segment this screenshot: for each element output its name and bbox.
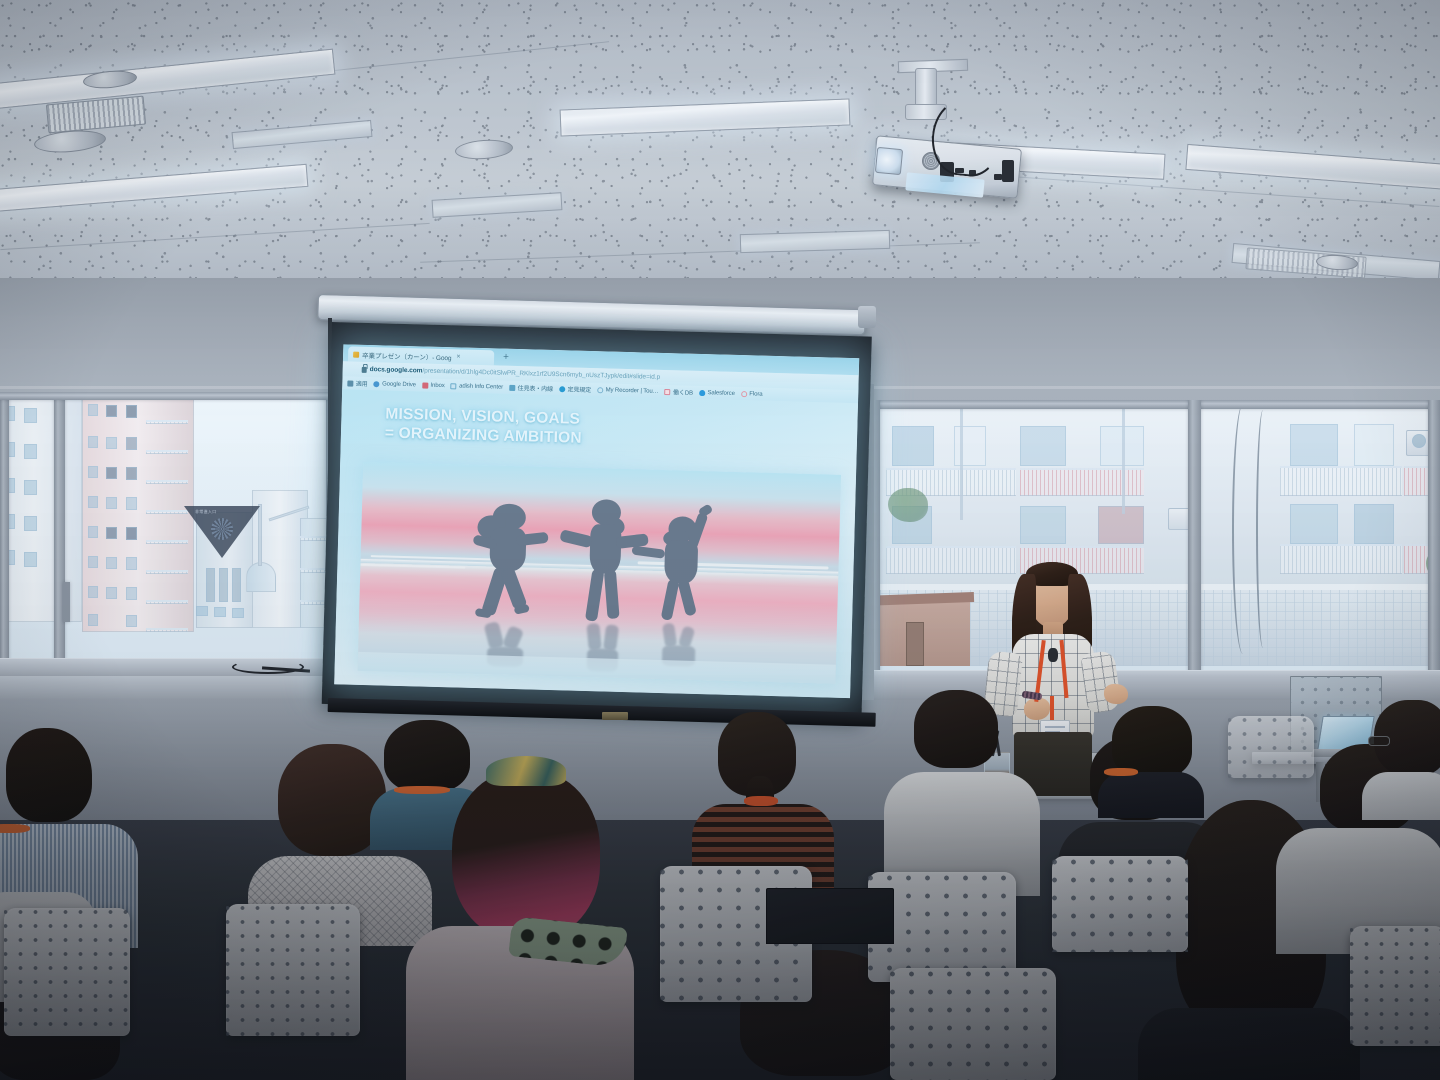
- building-window: [24, 516, 37, 531]
- reflection-leg: [662, 623, 678, 648]
- chair[interactable]: [890, 968, 1056, 1080]
- browser-tab-title: 卒業プレゼン（カーン）- Goog: [362, 349, 452, 361]
- reflection-leg: [502, 624, 524, 650]
- building-rail: [146, 480, 188, 484]
- bookmark-item[interactable]: 働くDB: [664, 387, 693, 397]
- utility-pole: [960, 400, 963, 520]
- building-window: [126, 527, 137, 540]
- building-window: [106, 527, 117, 539]
- building-window: [206, 568, 215, 602]
- audience-member-white-shirt-1: [880, 690, 1046, 896]
- apartment-balcony: [1280, 544, 1402, 574]
- window-header: [0, 392, 338, 400]
- projector-port: [994, 174, 1002, 180]
- building-window: [88, 404, 98, 416]
- presentation-room-photo: 非常進入口: [0, 0, 1440, 1080]
- building-rail: [146, 450, 188, 454]
- building-window: [126, 587, 137, 600]
- laptop-lid: [766, 888, 894, 944]
- bookmark-label: 定見規定: [567, 384, 591, 394]
- bookmark-label: Google Drive: [382, 381, 416, 388]
- badge-text-line: [1045, 726, 1065, 728]
- cloud-icon: [699, 389, 705, 395]
- screen-roller-end-cap: [858, 306, 876, 328]
- bookmark-item[interactable]: 定見規定: [559, 384, 591, 394]
- new-tab-button[interactable]: +: [503, 353, 509, 362]
- window-sill-ledge-left: [0, 676, 340, 700]
- chair-perforations: [890, 968, 1056, 1080]
- apartment-window: [892, 426, 934, 466]
- lanyard-strap: [744, 796, 778, 806]
- url-domain: docs.google.com: [370, 366, 423, 374]
- apartment-window: [1020, 426, 1066, 466]
- building-rail: [146, 628, 188, 632]
- building-rail: [146, 510, 188, 514]
- figure-leg-left: [585, 569, 605, 622]
- chair-perforations: [1228, 716, 1314, 778]
- screen-pull-tab[interactable]: [602, 712, 628, 720]
- tree: [888, 488, 928, 522]
- building-rail: [146, 540, 188, 544]
- sign-emblem: [211, 518, 233, 540]
- bookmark-item[interactable]: My Recorder | Tou…: [597, 387, 659, 395]
- screen-surface: 卒業プレゼン（カーン）- Goog × + docs.google.com/pr…: [334, 344, 859, 698]
- building-window: [24, 408, 37, 423]
- chair[interactable]: [4, 908, 130, 1036]
- bookmark-item[interactable]: 住見表・内線: [509, 383, 553, 393]
- chrome-browser-window[interactable]: 卒業プレゼン（カーン）- Goog × + docs.google.com/pr…: [334, 344, 859, 698]
- folder-icon: [347, 380, 353, 386]
- bookmark-label: 働くDB: [673, 387, 693, 397]
- window-mullion: [1188, 400, 1201, 696]
- sheet-icon: [509, 384, 515, 390]
- slide-title: MISSION, VISION, GOALS = ORGANIZING AMBI…: [385, 404, 583, 447]
- window-mullion: [1428, 400, 1440, 696]
- building-window: [88, 556, 98, 568]
- silhouette-figure-2: [569, 499, 644, 630]
- slide-photo-beach-sunset: [358, 462, 841, 684]
- pull-down-projection-screen[interactable]: 卒業プレゼン（カーン）- Goog × + docs.google.com/pr…: [318, 294, 880, 726]
- building-window: [106, 405, 117, 417]
- building-window: [88, 614, 98, 626]
- window-mullion: [54, 392, 65, 694]
- utility-pole: [1122, 400, 1125, 514]
- flower-icon: [741, 391, 747, 397]
- building-window: [88, 586, 98, 598]
- building-window: [219, 568, 228, 602]
- lanyard-strap: [0, 824, 30, 833]
- audience-head: [452, 770, 600, 940]
- circle-icon: [559, 386, 565, 392]
- square-icon: [665, 389, 671, 395]
- doc-icon: [451, 383, 457, 389]
- audience-member-back-dark: [1108, 706, 1206, 816]
- building-window: [88, 496, 98, 508]
- audience-torso: [1362, 772, 1440, 820]
- figure-leg-right: [678, 579, 698, 617]
- chair[interactable]: [1228, 716, 1314, 778]
- building-window: [214, 607, 226, 617]
- close-icon[interactable]: ×: [456, 353, 460, 360]
- building-window: [106, 587, 117, 599]
- chair-perforations: [1350, 926, 1440, 1046]
- necklace-pendant: [1048, 648, 1058, 662]
- building-window: [126, 467, 137, 480]
- bookmark-item[interactable]: Salesforce: [699, 389, 735, 396]
- headband: [486, 756, 566, 786]
- apartment-balcony: [1020, 468, 1144, 496]
- presenter-arm-right: [1080, 650, 1122, 714]
- figure-torso: [589, 524, 622, 574]
- bookmark-label: Inbox: [430, 382, 444, 388]
- building-window: [126, 497, 137, 510]
- silhouette-figure-3: [645, 516, 720, 631]
- building-window: [232, 608, 244, 618]
- chair-perforations: [4, 908, 130, 1036]
- screen-frame: 卒業プレゼン（カーン）- Goog × + docs.google.com/pr…: [322, 322, 872, 718]
- building-window: [126, 437, 137, 450]
- building-window: [126, 557, 137, 570]
- reflection-leg: [678, 625, 696, 649]
- building-window: [106, 557, 117, 569]
- lanyard-strap: [1104, 768, 1138, 776]
- building-window: [232, 568, 241, 602]
- bookmark-item[interactable]: Google Drive: [374, 381, 416, 388]
- chair[interactable]: [1052, 856, 1188, 952]
- building-window: [106, 467, 117, 479]
- building-window: [106, 497, 117, 509]
- audience-member-pink-hair: [412, 756, 628, 1080]
- projector-lens: [875, 147, 903, 175]
- audience-head: [914, 690, 998, 768]
- apartment-window: [954, 426, 986, 466]
- figure-leg-right: [604, 570, 620, 620]
- window-latch: [63, 582, 70, 622]
- bookmark-label: adish Info Center: [459, 383, 503, 390]
- bookmark-label: My Recorder | Tou…: [606, 387, 659, 394]
- bookmark-label: Salesforce: [707, 390, 735, 397]
- building-window: [196, 606, 208, 616]
- apartment-window: [1020, 506, 1066, 544]
- building-window: [126, 615, 137, 627]
- apartment-window: [1290, 504, 1338, 544]
- chair[interactable]: [226, 904, 360, 1036]
- bookmark-item[interactable]: Flora: [741, 391, 763, 398]
- chair-perforations: [1052, 856, 1188, 952]
- building-window: [126, 405, 137, 418]
- lock-icon: [362, 366, 367, 372]
- building-window: [24, 552, 37, 567]
- audience-member-glasses: [1366, 700, 1440, 820]
- building-window: [88, 466, 98, 478]
- ceiling: [0, 0, 1440, 300]
- building-rail: [146, 420, 188, 424]
- apartment-window: [1354, 424, 1394, 466]
- google-slides-slide: MISSION, VISION, GOALS = ORGANIZING AMBI…: [334, 389, 858, 698]
- silhouette-figure-1: [469, 502, 553, 625]
- eyeglasses: [1368, 736, 1390, 746]
- building-window: [24, 444, 37, 459]
- google-slides-favicon: [353, 351, 359, 357]
- chair-perforations: [226, 904, 360, 1036]
- building-window: [88, 526, 98, 538]
- reflection-leg: [603, 624, 619, 652]
- hanging-cable: [1256, 410, 1270, 648]
- building-rail: [146, 570, 188, 574]
- city-structure-arch: [246, 562, 276, 592]
- bookmark-label: Flora: [749, 391, 762, 397]
- bookmark-item[interactable]: Inbox: [422, 382, 445, 389]
- figure-arm-left: [559, 529, 592, 548]
- clock-icon: [597, 387, 603, 393]
- house-door: [906, 622, 924, 666]
- hanging-cable: [1232, 404, 1254, 654]
- bookmark-label: 住見表・内線: [518, 383, 554, 393]
- figure-foot-front: [514, 604, 530, 615]
- apartment-balcony: [1280, 466, 1402, 496]
- building-window: [106, 437, 117, 449]
- building-window: [24, 480, 37, 495]
- audience-torso: [1138, 1008, 1360, 1080]
- slide-title-line-2: = ORGANIZING AMBITION: [385, 423, 582, 447]
- drive-icon: [374, 381, 380, 387]
- inbox-icon: [422, 382, 428, 388]
- building-rail: [146, 600, 188, 604]
- reflection-leg: [483, 621, 504, 650]
- apartment-window: [1354, 504, 1394, 544]
- building-window: [88, 436, 98, 448]
- apartment-window: [1290, 424, 1338, 466]
- bookmark-item[interactable]: 適用: [347, 378, 368, 388]
- bookmark-item[interactable]: adish Info Center: [451, 383, 504, 390]
- window-wall-left: 非常進入口: [0, 392, 338, 694]
- presenter-hand-right: [1104, 684, 1128, 704]
- window-header: [870, 400, 1440, 409]
- audience-torso: [1098, 772, 1204, 818]
- laptop-audience-open[interactable]: [766, 888, 894, 950]
- apartment-window: [1098, 506, 1144, 544]
- figure-foot-back: [475, 608, 492, 619]
- projector-cable-plug: [1002, 160, 1014, 182]
- window-mullion: [0, 392, 9, 694]
- ac-fan: [1412, 434, 1426, 448]
- reflection-leg: [586, 622, 601, 650]
- bookmark-label: 適用: [356, 379, 368, 388]
- chair[interactable]: [1350, 926, 1440, 1046]
- audience-head: [6, 728, 92, 822]
